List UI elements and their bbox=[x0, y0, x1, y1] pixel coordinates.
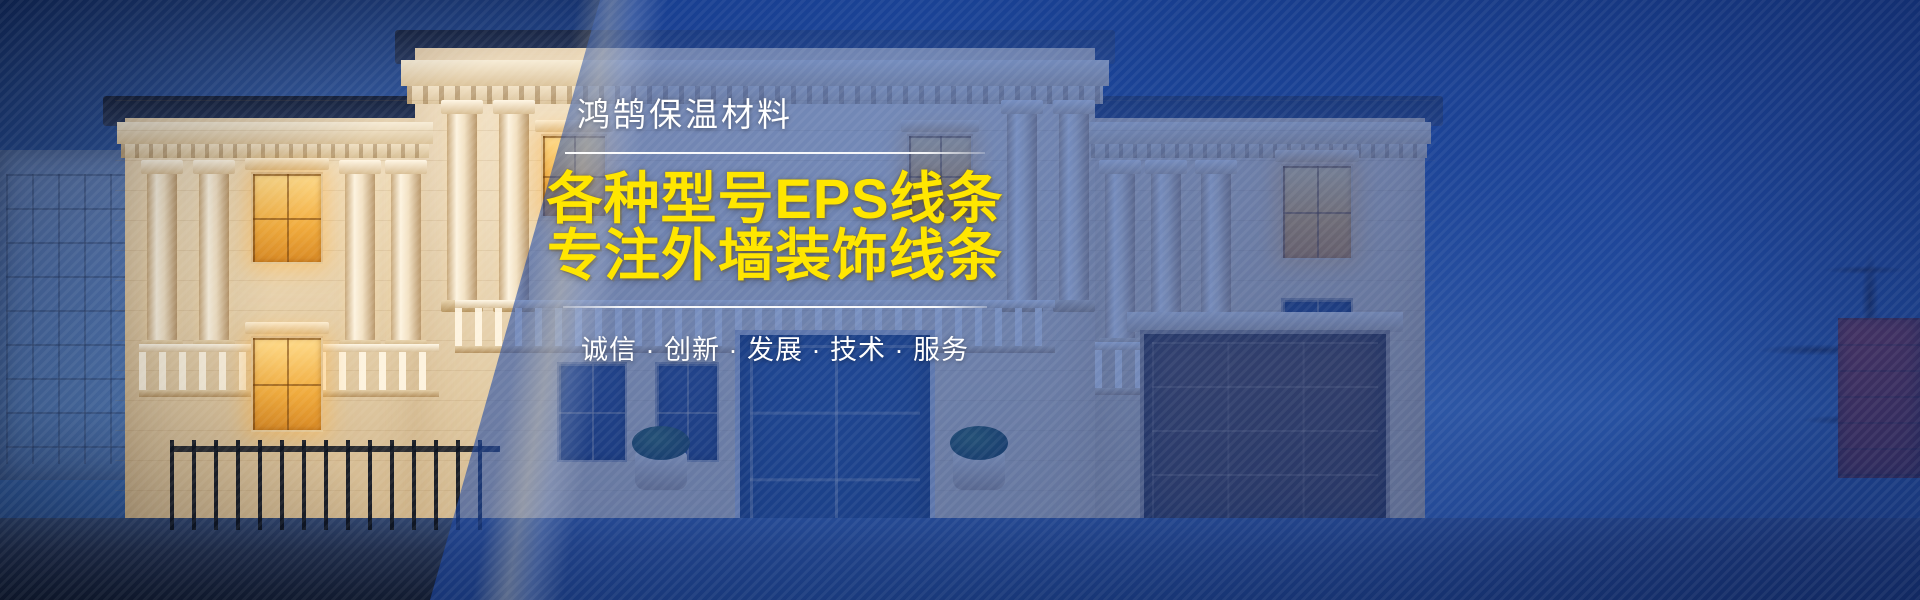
banner-text-block: 鸿鹄保温材料 各种型号EPS线条 专注外墙装饰线条 诚信 · 创新 · 发展 ·… bbox=[545, 96, 1005, 367]
hero-banner: 鸿鹄保温材料 各种型号EPS线条 专注外墙装饰线条 诚信 · 创新 · 发展 ·… bbox=[0, 0, 1920, 600]
tagline: 诚信 · 创新 · 发展 · 技术 · 服务 bbox=[545, 328, 1005, 367]
divider-top bbox=[565, 152, 985, 154]
brand-eyebrow: 鸿鹄保温材料 bbox=[545, 96, 1005, 135]
headline-line-1: 各种型号EPS线条 bbox=[545, 170, 1005, 227]
headline-line-2: 专注外墙装饰线条 bbox=[545, 227, 1005, 284]
divider-bottom bbox=[563, 306, 987, 308]
headline-group: 各种型号EPS线条 专注外墙装饰线条 bbox=[545, 170, 1005, 284]
